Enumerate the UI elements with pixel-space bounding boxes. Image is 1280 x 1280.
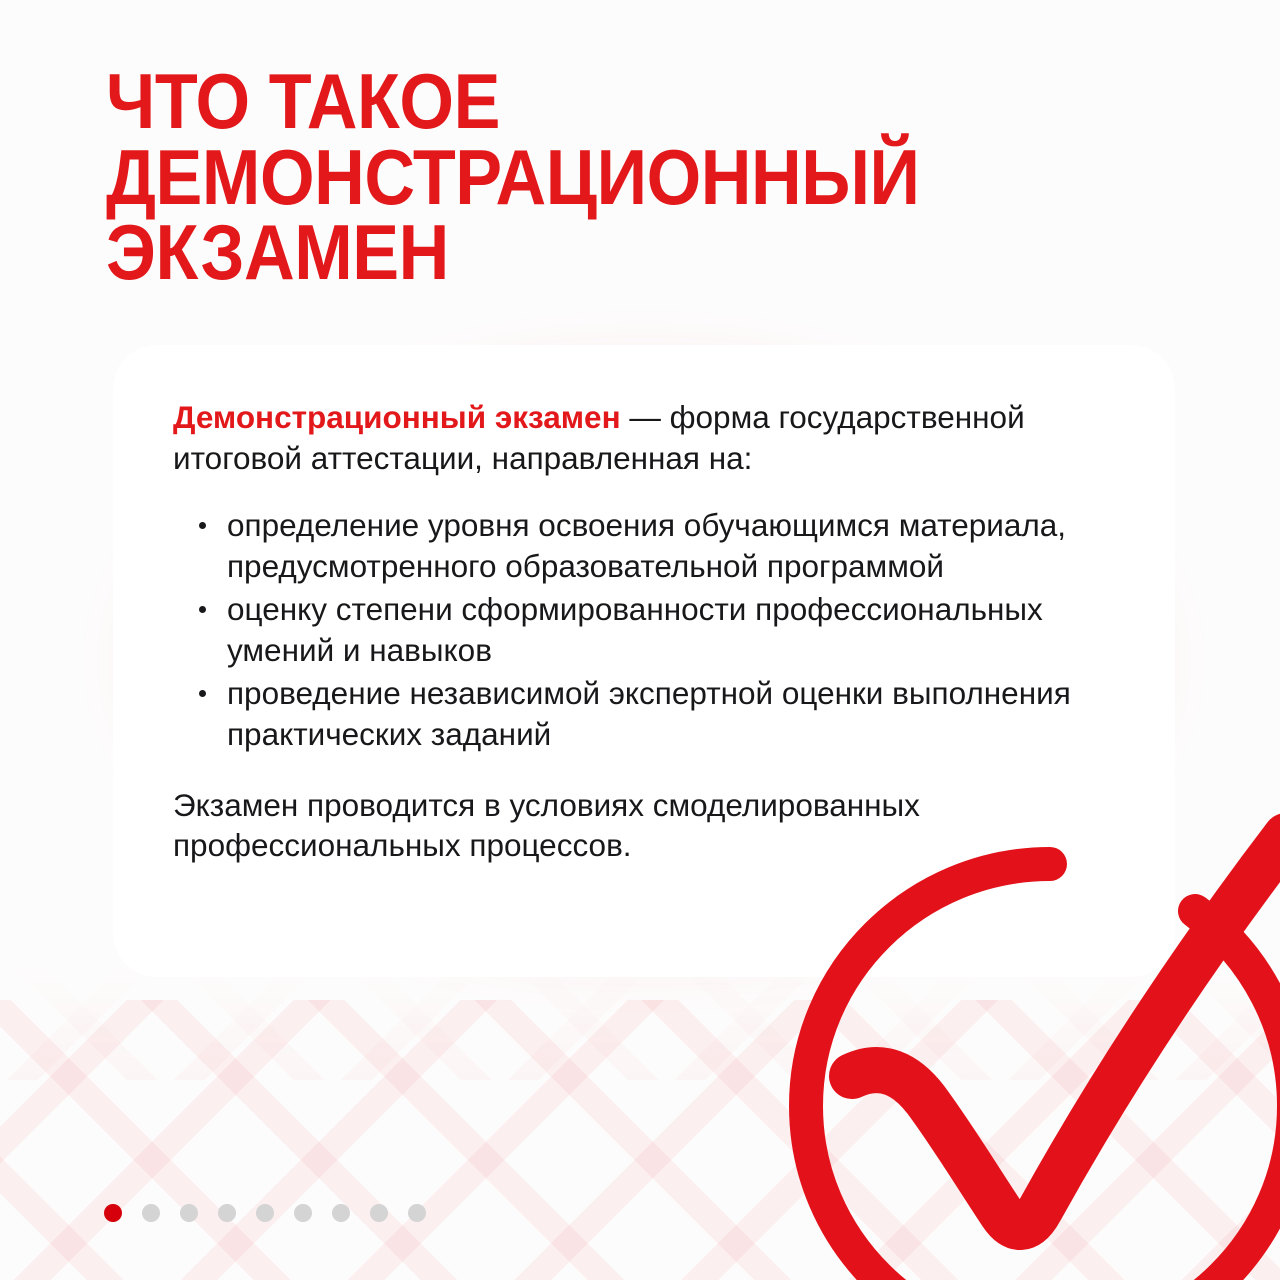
pagination-dot-8[interactable] (370, 1204, 388, 1222)
purpose-list: определение уровня освоения обучающимся … (173, 505, 1123, 755)
chevron-watermark-pattern (0, 1000, 1280, 1280)
page-title: ЧТО ТАКОЕ ДЕМОНСТРАЦИОННЫЙ ЭКЗАМЕН (106, 64, 1060, 291)
list-item: проведение независимой экспертной оценки… (173, 673, 1123, 755)
pagination-dot-5[interactable] (256, 1204, 274, 1222)
slide-root: ЧТО ТАКОЕ ДЕМОНСТРАЦИОННЫЙ ЭКЗАМЕН Демон… (0, 0, 1280, 1280)
pagination-dot-2[interactable] (142, 1204, 160, 1222)
card-body: Демонстрационный экзамен — форма государ… (173, 397, 1123, 866)
definition-paragraph: Демонстрационный экзамен — форма государ… (173, 397, 1123, 479)
pagination-dot-3[interactable] (180, 1204, 198, 1222)
pagination-dot-1[interactable] (104, 1204, 122, 1222)
pagination-dot-4[interactable] (218, 1204, 236, 1222)
list-item: определение уровня освоения обучающимся … (173, 505, 1123, 587)
pagination-dot-9[interactable] (408, 1204, 426, 1222)
definition-term: Демонстрационный экзамен (173, 399, 621, 435)
pagination-dot-6[interactable] (294, 1204, 312, 1222)
list-item: оценку степени сформированности професси… (173, 589, 1123, 671)
closing-paragraph: Экзамен проводится в условиях смоделиров… (173, 785, 1123, 867)
content-card: Демонстрационный экзамен — форма государ… (113, 345, 1175, 977)
page-title-line-2: ДЕМОНСТРАЦИОННЫЙ (106, 140, 1060, 216)
pagination-dot-7[interactable] (332, 1204, 350, 1222)
page-title-line-1: ЧТО ТАКОЕ (106, 64, 1060, 140)
page-title-line-3: ЭКЗАМЕН (106, 215, 1060, 291)
pagination-dots[interactable] (104, 1204, 426, 1222)
